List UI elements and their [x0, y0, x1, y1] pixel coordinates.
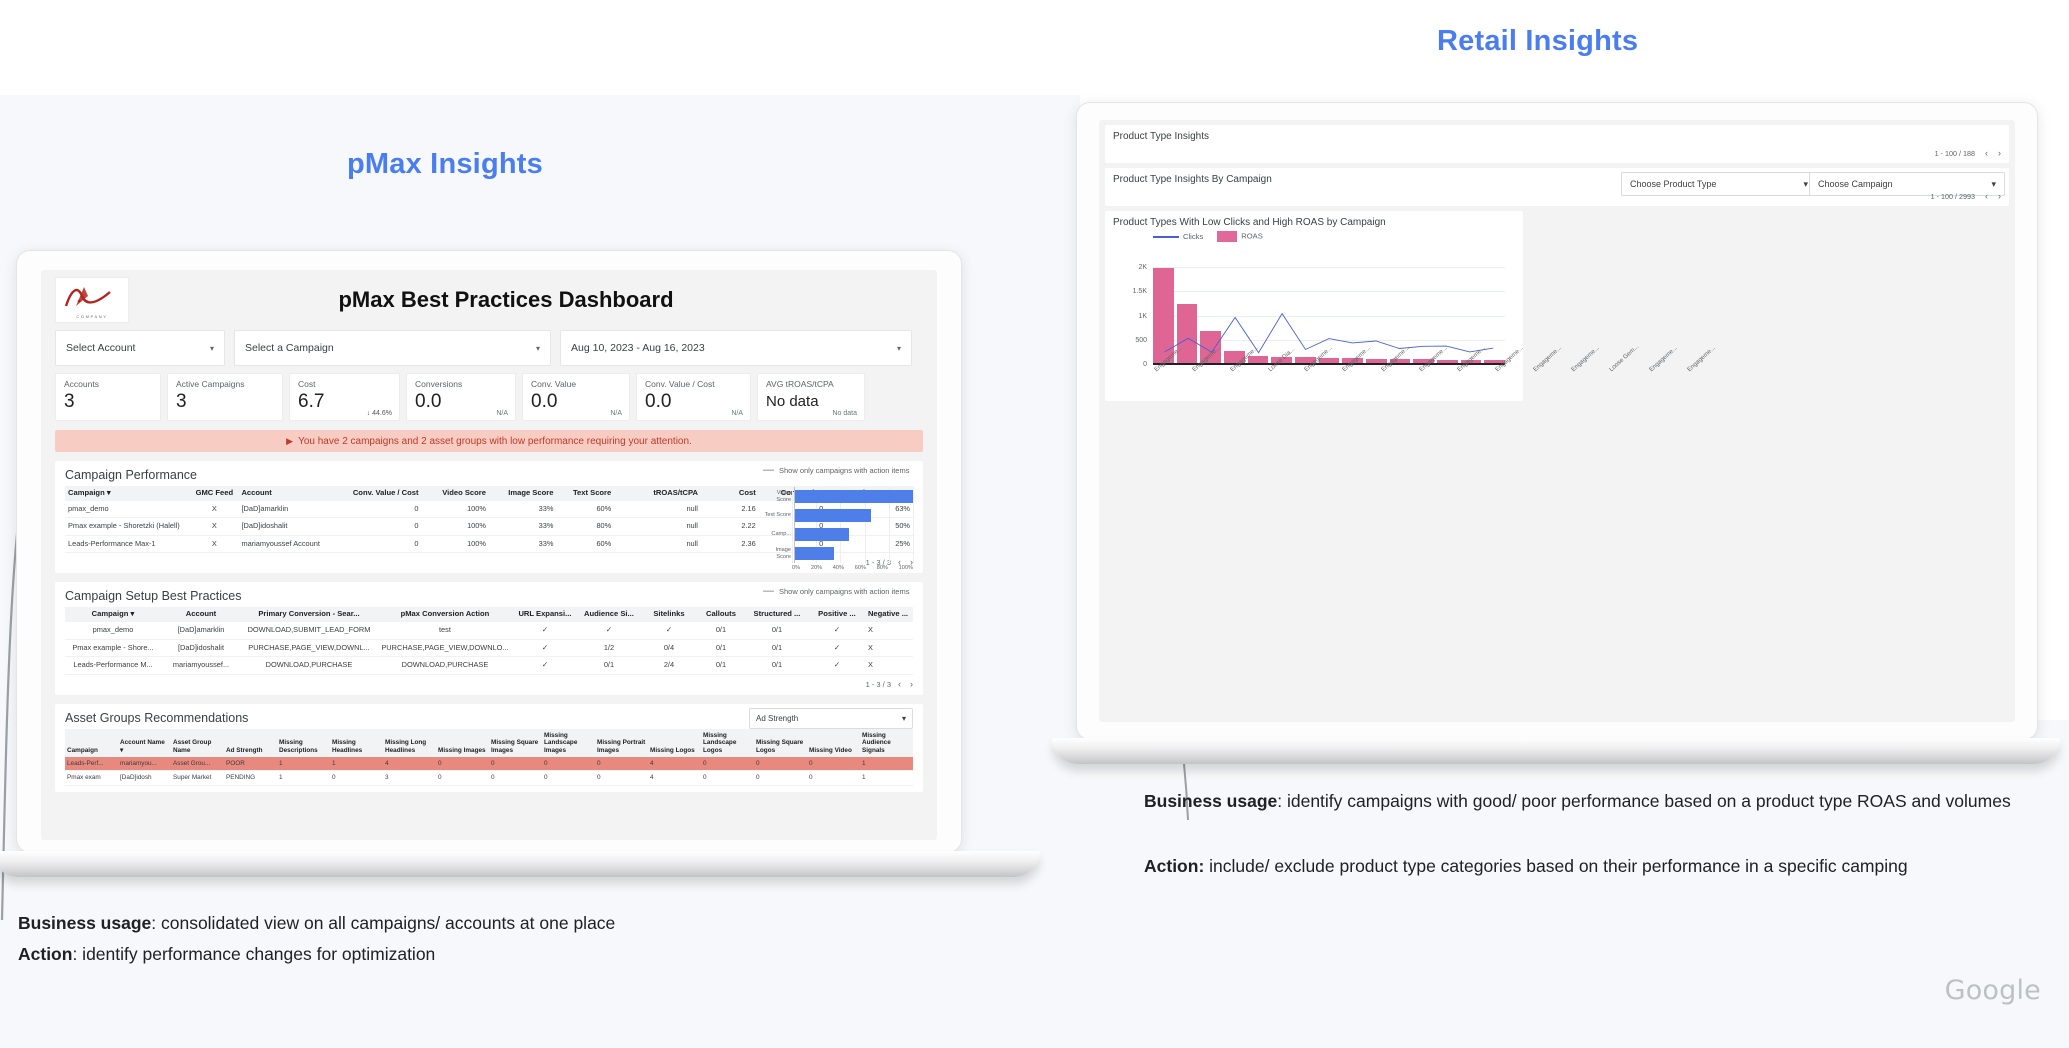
- business-usage-text: : identify campaigns with good/ poor per…: [1277, 791, 2010, 811]
- table-cell: ✓: [513, 622, 577, 639]
- table-cell: 0/1: [697, 657, 745, 675]
- table-cell: 0/1: [577, 657, 641, 675]
- business-usage-text: : consolidated view on all campaigns/ ac…: [151, 913, 615, 933]
- bar-track: [794, 544, 913, 563]
- y-tick-label: 500: [1113, 337, 1147, 344]
- action-label: Action: [18, 944, 72, 964]
- campaign-setup-pager[interactable]: 1 - 3 / 3 ‹ ›: [65, 675, 913, 689]
- table-cell: X: [190, 501, 238, 518]
- kpi-accounts: Accounts 3: [55, 373, 161, 421]
- kpi-conv-value: Conv. Value 0.0 N/A: [522, 373, 630, 421]
- kpi-row: Accounts 3 Active Campaigns 3 Cost 6.7 ↓…: [41, 366, 937, 421]
- table-row[interactable]: pmax_demo[DaD]amarklinDOWNLOAD,SUBMIT_LE…: [65, 622, 913, 639]
- table-cell: Leads-Performance M...: [65, 657, 161, 675]
- x-tick-label: Engageme...: [1686, 345, 1717, 374]
- x-tick-label: Engageme...: [1648, 345, 1679, 374]
- table-cell: 33%: [489, 518, 556, 536]
- y-tick-label: 2K: [1113, 264, 1147, 271]
- x-tick-label: 100%: [899, 565, 913, 571]
- table-cell: 0/1: [745, 639, 809, 657]
- y-tick-label: 0: [1113, 361, 1147, 368]
- kpi-value: 0.0: [645, 390, 742, 413]
- table-cell: 33%: [489, 501, 556, 518]
- chart-bar-row: Camp...: [761, 525, 913, 544]
- chart-x-axis-labels: Engageme...Engageme...Engageme...Loose D…: [1153, 368, 1505, 375]
- table-cell: ✓: [641, 622, 697, 639]
- column-header[interactable]: Ad Strength: [224, 729, 277, 757]
- chart-x-axis: 0%20%40%60%80%100%: [792, 563, 913, 571]
- column-header[interactable]: URL Expansi...: [513, 607, 577, 622]
- column-header[interactable]: Account: [161, 607, 241, 622]
- table-cell: Pmax exam: [65, 771, 118, 785]
- table-cell: 33%: [489, 535, 556, 553]
- table-cell: DOWNLOAD,PURCHASE: [241, 657, 377, 675]
- toggle-label: Show only campaigns with action items: [779, 466, 909, 475]
- pmax-insights-title: pMax Insights: [347, 148, 543, 181]
- column-header[interactable]: Campaign ▾: [65, 486, 190, 501]
- table-row[interactable]: Leads-Performance M...mariamyoussef...DO…: [65, 657, 913, 675]
- column-header[interactable]: Sitelinks: [641, 607, 697, 622]
- x-tick-label: 20%: [811, 565, 822, 571]
- table-cell: 1: [330, 757, 383, 771]
- table-cell: X: [865, 622, 913, 639]
- table-cell: 0: [701, 757, 754, 771]
- action-text: include/ exclude product type categories…: [1204, 856, 1907, 876]
- table-cell: 0: [489, 757, 542, 771]
- combo-chart: 05001K1.5K2K Engageme...Engageme...Engag…: [1113, 246, 1515, 396]
- table-cell: mariamyoussef...: [161, 657, 241, 675]
- laptop-base: [1052, 738, 2060, 764]
- column-header[interactable]: Video Score: [422, 486, 489, 501]
- table-cell: 80%: [556, 518, 614, 536]
- table-row[interactable]: Leads-Perf...mariamyou...Asset Grou...PO…: [65, 757, 913, 771]
- show-action-items-toggle[interactable]: — Show only campaigns with action items: [763, 466, 913, 475]
- pmax-laptop-mockup: COMPANY pMax Best Practices Dashboard Se…: [16, 250, 962, 853]
- table-cell: 100%: [422, 518, 489, 536]
- column-header[interactable]: Missing Square Logos: [754, 729, 807, 757]
- show-action-items-toggle-2[interactable]: — Show only campaigns with action items: [763, 587, 913, 596]
- table-cell: 0/1: [745, 622, 809, 639]
- table-cell: 1: [277, 757, 330, 771]
- table-cell: 0: [542, 757, 595, 771]
- bar-track: [794, 506, 913, 525]
- kpi-value: 0.0: [531, 390, 621, 413]
- bar-label: Image Score: [761, 547, 794, 560]
- column-header[interactable]: Account: [238, 486, 334, 501]
- right-action-line: Action: include/ exclude product type ca…: [1144, 851, 2044, 882]
- table-cell: Asset Grou...: [171, 757, 224, 771]
- x-tick-label: 80%: [877, 565, 888, 571]
- column-header[interactable]: Missing Images: [436, 729, 489, 757]
- kpi-delta: N/A: [496, 410, 508, 417]
- kpi-avg-troas-tcpa: AVG tROAS/tCPA No data No data: [757, 373, 865, 421]
- y-tick-label: 1K: [1113, 313, 1147, 320]
- table-cell: 0: [754, 757, 807, 771]
- chart-bar: [795, 509, 871, 522]
- kpi-label: Cost: [298, 379, 391, 390]
- column-header[interactable]: Negative ...: [865, 607, 913, 622]
- x-tick-label: Engageme...: [1532, 345, 1563, 374]
- column-header[interactable]: Asset Group Name: [171, 729, 224, 757]
- business-usage-label: Business usage: [1144, 791, 1277, 811]
- low-clicks-high-roas-chart-card: Product Types With Low Clicks and High R…: [1105, 211, 1523, 401]
- table-cell: 0: [330, 771, 383, 785]
- table-cell: 0: [595, 757, 648, 771]
- chart-bar: [795, 528, 849, 541]
- kpi-delta: N/A: [731, 410, 743, 417]
- date-range-dropdown[interactable]: Aug 10, 2023 - Aug 16, 2023 ▾: [560, 330, 912, 366]
- retail-dashboard: Product Type Insights 1 - 100 / 188 ‹ › …: [1099, 120, 2015, 722]
- retail-insights-title: Retail Insights: [1437, 25, 1638, 58]
- table-cell: 4: [648, 771, 701, 785]
- kpi-delta: N/A: [610, 410, 622, 417]
- column-header[interactable]: Missing Descriptions: [277, 729, 330, 757]
- callout-spacer: [1144, 817, 2044, 851]
- table-cell: PURCHASE,PAGE_VIEW,DOWNLO...: [377, 639, 513, 657]
- table-cell: 0: [542, 771, 595, 785]
- laptop-base: [0, 851, 1040, 877]
- kpi-label: Accounts: [64, 379, 152, 390]
- column-header[interactable]: Missing Landscape Images: [542, 729, 595, 757]
- right-callout-text: Business usage: identify campaigns with …: [1144, 786, 2044, 882]
- x-tick-label: 40%: [833, 565, 844, 571]
- table-cell: 0: [754, 771, 807, 785]
- table-cell: ✓: [577, 622, 641, 639]
- kpi-active-campaigns: Active Campaigns 3: [167, 373, 283, 421]
- table-cell: Pmax example - Shore...: [65, 639, 161, 657]
- table-row[interactable]: Pmax exam[DaD]idoshSuper MarketPENDING10…: [65, 771, 913, 785]
- pager-label: 1 - 100 / 188: [1935, 149, 1975, 158]
- legend-item-roas: ROAS: [1217, 231, 1263, 242]
- pager-label: 1 - 3 / 3: [866, 680, 891, 689]
- bar-label: Camp...: [761, 531, 794, 537]
- table-header-row: Campaign ▾AccountPrimary Conversion - Se…: [65, 607, 913, 622]
- table-cell: 0: [807, 771, 860, 785]
- toggle-label: Show only campaigns with action items: [779, 587, 909, 596]
- kpi-label: Conversions: [415, 379, 507, 390]
- table-cell: 100%: [422, 535, 489, 553]
- kpi-delta: No data: [832, 410, 857, 417]
- column-header[interactable]: tROAS/tCPA: [614, 486, 701, 501]
- kpi-delta: ↓ 44.6%: [367, 410, 392, 417]
- down-arrow-icon: ↓: [367, 410, 371, 417]
- table-cell: pmax_demo: [65, 501, 190, 518]
- pmax-laptop-screen: COMPANY pMax Best Practices Dashboard Se…: [16, 250, 962, 853]
- x-tick-label: Engageme...: [1570, 345, 1601, 374]
- table-cell: PENDING: [224, 771, 277, 785]
- kpi-value: 3: [176, 390, 274, 413]
- minus-icon: —: [763, 466, 774, 474]
- product-type-by-campaign-pager[interactable]: 1 - 100 / 2993 ‹ ›: [1113, 188, 2001, 201]
- date-range-value: Aug 10, 2023 - Aug 16, 2023: [571, 342, 705, 354]
- chart-title: Product Types With Low Clicks and High R…: [1113, 217, 1515, 228]
- kpi-label: Conv. Value / Cost: [645, 379, 742, 390]
- chevron-down-icon: ▾: [210, 344, 214, 353]
- column-header[interactable]: Text Score: [556, 486, 614, 501]
- table-cell: X: [190, 518, 238, 536]
- table-cell: ✓: [809, 657, 865, 675]
- column-header[interactable]: Missing Square Images: [489, 729, 542, 757]
- line-swatch-icon: [1153, 236, 1179, 238]
- table-cell: 60%: [556, 535, 614, 553]
- table-cell: 1: [860, 771, 913, 785]
- table-cell: [DaD]amarklin: [161, 622, 241, 639]
- table-cell: null: [614, 518, 701, 536]
- column-header[interactable]: Positive ...: [809, 607, 865, 622]
- column-header[interactable]: Account Name ▾: [118, 729, 171, 757]
- asset-groups-table: CampaignAccount Name ▾Asset Group NameAd…: [65, 729, 913, 786]
- column-header[interactable]: Audience Si...: [577, 607, 641, 622]
- flag-icon: ▶: [286, 436, 293, 447]
- table-cell: 2.22: [701, 518, 759, 536]
- next-page-icon[interactable]: ›: [1998, 191, 2001, 201]
- kpi-value: 0.0: [415, 390, 507, 413]
- table-cell: [DaD]amarklin: [238, 501, 334, 518]
- alert-text: You have 2 campaigns and 2 asset groups …: [298, 436, 692, 447]
- table-cell: ✓: [513, 639, 577, 657]
- table-cell: mariamyou...: [118, 757, 171, 771]
- chart-bar-row: Video Score: [761, 487, 913, 506]
- table-cell: 2.16: [701, 501, 759, 518]
- select-campaign-dropdown[interactable]: Select a Campaign ▾: [234, 330, 551, 366]
- table-cell: null: [614, 501, 701, 518]
- product-type-by-campaign-card: Product Type Insights By Campaign Choose…: [1105, 168, 2009, 206]
- table-cell: 0: [595, 771, 648, 785]
- table-cell: 0/1: [745, 657, 809, 675]
- table-cell: 2.36: [701, 535, 759, 553]
- table-cell: DOWNLOAD,SUBMIT_LEAD_FORM: [241, 622, 377, 639]
- x-tick-label: 60%: [855, 565, 866, 571]
- campaign-setup-card: Campaign Setup Best Practices — Show onl…: [55, 582, 923, 694]
- x-tick-label: 0%: [792, 565, 800, 571]
- low-performance-alert: ▶ You have 2 campaigns and 2 asset group…: [55, 430, 923, 452]
- column-header[interactable]: Missing Landscape Logos: [701, 729, 754, 757]
- company-logo: COMPANY: [55, 277, 129, 323]
- column-header[interactable]: Primary Conversion - Sear...: [241, 607, 377, 622]
- table-cell: Pmax example - Shoretzki (Halell): [65, 518, 190, 536]
- table-cell: 0: [807, 757, 860, 771]
- table-cell: Leads-Performance Max-1: [65, 535, 190, 553]
- table-cell: ✓: [513, 657, 577, 675]
- chevron-down-icon: ▾: [902, 714, 906, 723]
- column-header[interactable]: Missing Audience Signals: [860, 729, 913, 757]
- prev-page-icon[interactable]: ‹: [1985, 148, 1988, 158]
- select-campaign-value: Select a Campaign: [245, 342, 334, 354]
- table-cell: X: [190, 535, 238, 553]
- bar-track: [794, 487, 913, 506]
- column-header[interactable]: Cost: [701, 486, 759, 501]
- bar-swatch-icon: [1217, 231, 1237, 242]
- next-page-icon[interactable]: ›: [1998, 148, 2001, 158]
- retail-laptop-mockup: Product Type Insights 1 - 100 / 188 ‹ › …: [1076, 102, 2038, 740]
- table-cell: 0: [436, 771, 489, 785]
- kpi-conv-value-cost: Conv. Value / Cost 0.0 N/A: [636, 373, 751, 421]
- dashboard-filters: Select Account ▾ Select a Campaign ▾ Aug…: [41, 324, 937, 366]
- table-row[interactable]: Pmax example - Shore...[DaD]idoshalitPUR…: [65, 639, 913, 657]
- product-type-insights-card: Product Type Insights 1 - 100 / 188 ‹ ›: [1105, 125, 2009, 163]
- left-action-line: Action: identify performance changes for…: [18, 939, 1018, 970]
- minus-icon: —: [763, 587, 774, 595]
- table-cell: Leads-Perf...: [65, 757, 118, 771]
- pmax-dashboard: COMPANY pMax Best Practices Dashboard Se…: [41, 270, 937, 840]
- column-header[interactable]: Image Score: [489, 486, 556, 501]
- table-cell: X: [865, 639, 913, 657]
- retail-laptop-screen: Product Type Insights 1 - 100 / 188 ‹ › …: [1076, 102, 2038, 740]
- select-account-dropdown[interactable]: Select Account ▾: [55, 330, 225, 366]
- chart-bar: [795, 490, 913, 503]
- dashboard-header: COMPANY pMax Best Practices Dashboard: [41, 270, 937, 324]
- chart-legend: Clicks ROAS: [1153, 231, 1515, 242]
- table-cell: 0: [436, 757, 489, 771]
- table-cell: mariamyoussef Account: [238, 535, 334, 553]
- business-usage-label: Business usage: [18, 913, 151, 933]
- table-header-row: CampaignAccount Name ▾Asset Group NameAd…: [65, 729, 913, 757]
- column-header[interactable]: Campaign: [65, 729, 118, 757]
- column-header[interactable]: Missing Long Headlines: [383, 729, 436, 757]
- kpi-value: 3: [64, 390, 152, 413]
- company-logo-text: COMPANY: [56, 314, 128, 319]
- table-cell: PURCHASE,PAGE_VIEW,DOWNL...: [241, 639, 377, 657]
- campaign-score-bar-chart: Video ScoreText ScoreCamp...Image Score …: [761, 487, 913, 579]
- ad-strength-dropdown[interactable]: Ad Strength ▾: [749, 708, 913, 729]
- kpi-conversions: Conversions 0.0 N/A: [406, 373, 516, 421]
- bar-track: [794, 525, 913, 544]
- column-header[interactable]: Campaign ▾: [65, 607, 161, 622]
- column-header[interactable]: pMax Conversion Action: [377, 607, 513, 622]
- table-cell: [DaD]idoshalit: [161, 639, 241, 657]
- action-text: : identify performance changes for optim…: [72, 944, 435, 964]
- table-cell: 0: [335, 518, 422, 536]
- legend-item-clicks: Clicks: [1153, 232, 1203, 241]
- table-cell: POOR: [224, 757, 277, 771]
- campaign-setup-table: Campaign ▾AccountPrimary Conversion - Se…: [65, 607, 913, 674]
- table-cell: [DaD]idosh: [118, 771, 171, 785]
- column-header[interactable]: Missing Video: [807, 729, 860, 757]
- bar-label: Text Score: [761, 512, 794, 518]
- table-cell: 1: [277, 771, 330, 785]
- table-cell: 0/1: [697, 639, 745, 657]
- table-cell: 0/1: [697, 622, 745, 639]
- column-header[interactable]: Callouts: [697, 607, 745, 622]
- table-cell: null: [614, 535, 701, 553]
- table-cell: 4: [383, 757, 436, 771]
- table-cell: 2/4: [641, 657, 697, 675]
- column-header[interactable]: Conv. Value / Cost: [335, 486, 422, 501]
- table-cell: [DaD]idoshalit: [238, 518, 334, 536]
- table-cell: 100%: [422, 501, 489, 518]
- left-business-usage-line: Business usage: consolidated view on all…: [18, 908, 1018, 939]
- right-business-usage-line: Business usage: identify campaigns with …: [1144, 786, 2044, 817]
- table-cell: 0: [335, 501, 422, 518]
- table-cell: 0: [335, 535, 422, 553]
- chevron-down-icon: ▾: [897, 344, 901, 353]
- column-header[interactable]: GMC Feed: [190, 486, 238, 501]
- table-cell: 0: [701, 771, 754, 785]
- y-tick-label: 1.5K: [1113, 288, 1147, 295]
- table-cell: 1/2: [577, 639, 641, 657]
- pager-label: 1 - 100 / 2993: [1931, 192, 1975, 201]
- left-callout-text: Business usage: consolidated view on all…: [18, 908, 1018, 970]
- x-tick-label: Loose Gem...: [1608, 343, 1640, 373]
- table-cell: ✓: [809, 639, 865, 657]
- table-cell: 4: [648, 757, 701, 771]
- chart-bars: Video ScoreText ScoreCamp...Image Score: [761, 487, 913, 563]
- column-header[interactable]: Missing Logos: [648, 729, 701, 757]
- table-cell: 60%: [556, 501, 614, 518]
- dashboard-title: pMax Best Practices Dashboard: [89, 287, 923, 313]
- next-page-icon[interactable]: ›: [910, 679, 913, 689]
- bar-label: Video Score: [761, 490, 794, 503]
- column-header[interactable]: Missing Portrait Images: [595, 729, 648, 757]
- asset-groups-card: Asset Groups Recommendations Ad Strength…: [55, 704, 923, 792]
- prev-page-icon[interactable]: ‹: [1985, 191, 1988, 201]
- campaign-performance-card: Campaign Performance — Show only campaig…: [55, 461, 923, 573]
- product-type-insights-pager[interactable]: 1 - 100 / 188 ‹ ›: [1113, 145, 2001, 158]
- select-account-value: Select Account: [66, 342, 135, 354]
- chart-bar: [795, 547, 834, 560]
- ad-strength-value: Ad Strength: [756, 714, 798, 723]
- table-cell: DOWNLOAD,PURCHASE: [377, 657, 513, 675]
- table-cell: pmax_demo: [65, 622, 161, 639]
- column-header[interactable]: Structured ...: [745, 607, 809, 622]
- table-cell: test: [377, 622, 513, 639]
- logo-swoosh-icon: [62, 284, 120, 308]
- chevron-down-icon: ▾: [536, 344, 540, 353]
- table-cell: 1: [860, 757, 913, 771]
- kpi-label: Conv. Value: [531, 379, 621, 390]
- kpi-cost: Cost 6.7 ↓ 44.6%: [289, 373, 400, 421]
- table-cell: X: [865, 657, 913, 675]
- table-cell: 0: [489, 771, 542, 785]
- column-header[interactable]: Missing Headlines: [330, 729, 383, 757]
- table-cell: 3: [383, 771, 436, 785]
- table-cell: 0/4: [641, 639, 697, 657]
- table-cell: Super Market: [171, 771, 224, 785]
- table-cell: ✓: [809, 622, 865, 639]
- product-type-insights-title: Product Type Insights: [1113, 131, 2001, 142]
- chart-bar-row: Text Score: [761, 506, 913, 525]
- kpi-label: Active Campaigns: [176, 379, 274, 390]
- prev-page-icon[interactable]: ‹: [898, 679, 901, 689]
- kpi-label: AVG tROAS/tCPA: [766, 379, 856, 390]
- action-label: Action:: [1144, 856, 1204, 876]
- google-watermark: Google: [1945, 975, 2041, 1006]
- chart-bar-row: Image Score: [761, 544, 913, 563]
